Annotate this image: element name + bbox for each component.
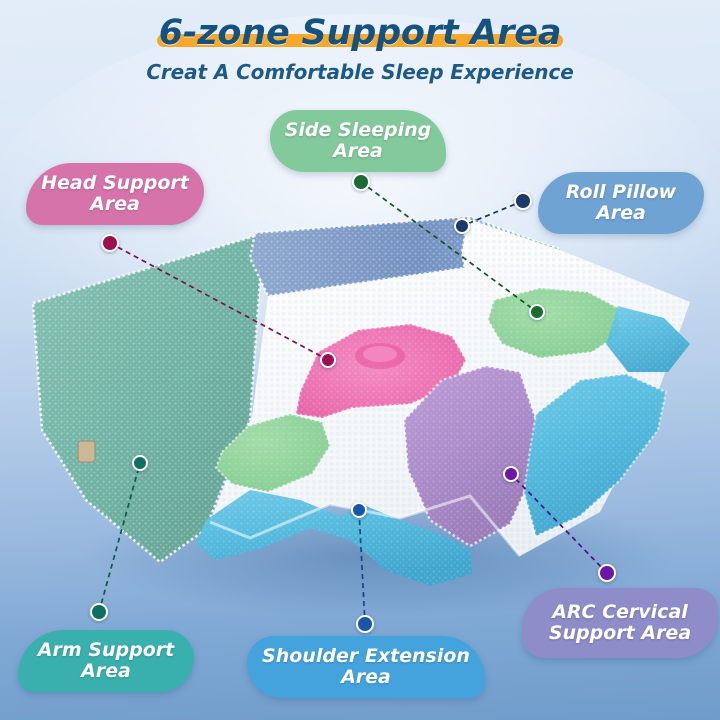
target-dot-roll-pillow[interactable] xyxy=(454,218,470,234)
marker-dot-head-support[interactable] xyxy=(101,234,119,252)
target-dot-arm-support[interactable] xyxy=(132,455,148,471)
callout-label-text: Side SleepingArea xyxy=(285,120,432,163)
target-dot-head-support[interactable] xyxy=(320,352,336,368)
callout-label-arc-cervical[interactable]: ARC CervicalSupport Area xyxy=(522,588,718,658)
callout-label-text: ARC CervicalSupport Area xyxy=(549,602,691,645)
callout-label-text: Head SupportArea xyxy=(41,173,189,216)
target-dot-side-sleeping[interactable] xyxy=(529,304,545,320)
target-dot-arc-cervical[interactable] xyxy=(503,466,519,482)
callout-label-shoulder-extension[interactable]: Shoulder ExtensionArea xyxy=(247,636,485,698)
infographic-canvas: 6-zone Support Area Creat A Comfortable … xyxy=(0,0,720,720)
marker-dot-arm-support[interactable] xyxy=(90,603,108,621)
target-dot-shoulder-extension[interactable] xyxy=(351,502,367,518)
callout-label-text: Shoulder ExtensionArea xyxy=(262,646,470,689)
marker-dot-side-sleeping[interactable] xyxy=(352,173,370,191)
callout-label-text: Roll PillowArea xyxy=(566,182,676,225)
callout-label-side-sleeping[interactable]: Side SleepingArea xyxy=(270,110,446,172)
page-subtitle: Creat A Comfortable Sleep Experience xyxy=(0,60,720,84)
page-title: 6-zone Support Area xyxy=(159,14,562,53)
title-wrap: 6-zone Support Area xyxy=(153,14,568,53)
callout-label-arm-support[interactable]: Arm SupportArea xyxy=(18,630,194,692)
callout-label-roll-pillow[interactable]: Roll PillowArea xyxy=(538,172,704,234)
marker-dot-shoulder-extension[interactable] xyxy=(356,615,374,633)
fabric-tag xyxy=(78,441,95,462)
headline-block: 6-zone Support Area Creat A Comfortable … xyxy=(0,14,720,84)
marker-dot-arc-cervical[interactable] xyxy=(598,564,616,582)
callout-label-head-support[interactable]: Head SupportArea xyxy=(26,163,204,225)
callout-label-text: Arm SupportArea xyxy=(38,640,174,683)
marker-dot-roll-pillow[interactable] xyxy=(514,192,532,210)
